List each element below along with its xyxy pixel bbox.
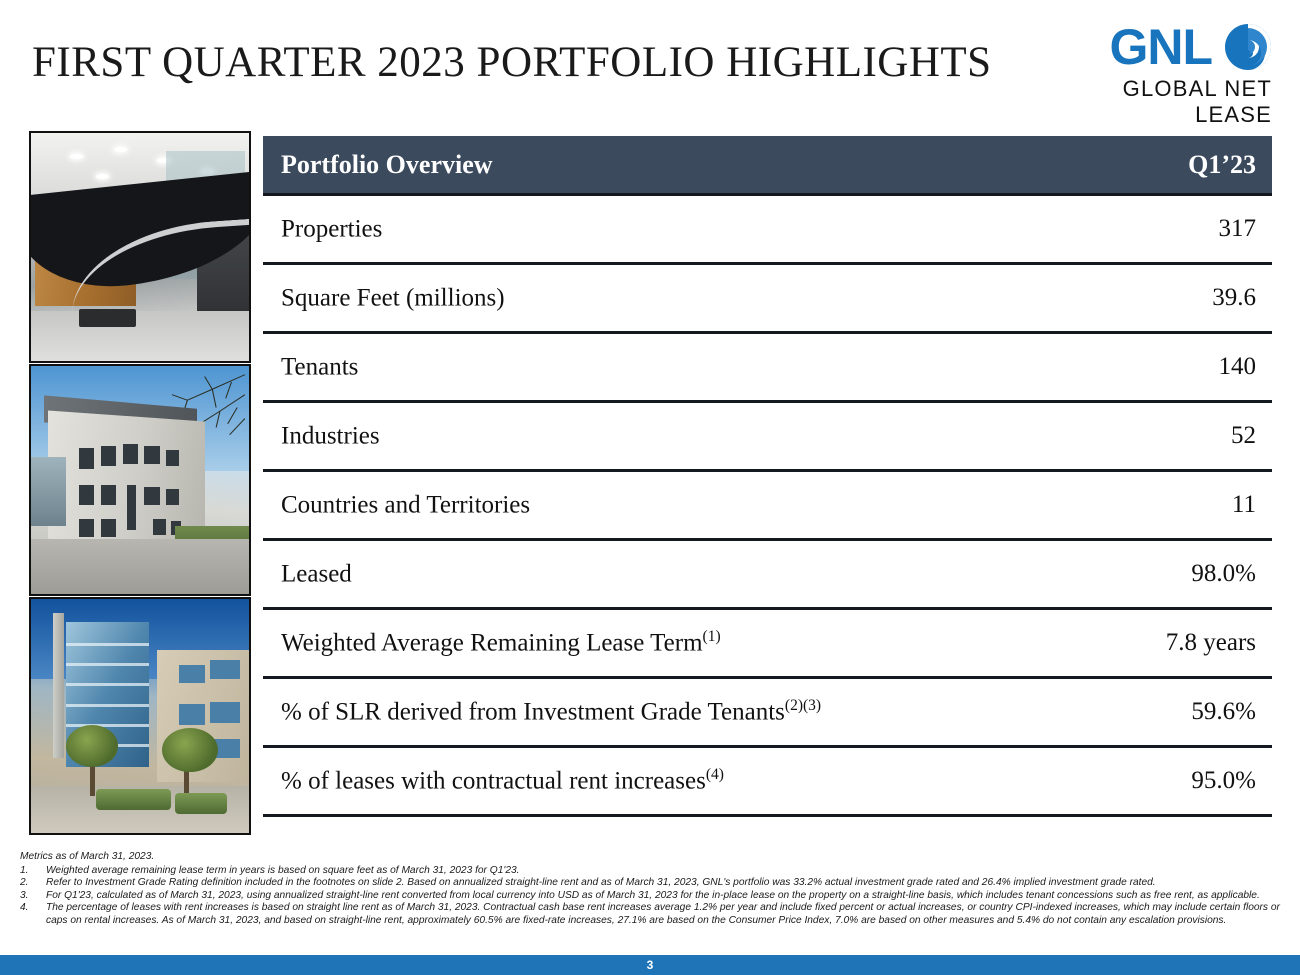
row-label: Properties: [281, 214, 382, 243]
footnote-text: Refer to Investment Grade Rating definit…: [46, 877, 1282, 890]
table-row: % of SLR derived from Investment Grade T…: [263, 679, 1272, 748]
row-label: Weighted Average Remaining Lease Term(1): [281, 628, 721, 657]
footnote-text: Weighted average remaining lease term in…: [46, 865, 1282, 878]
table-row: Weighted Average Remaining Lease Term(1)…: [263, 610, 1272, 679]
portfolio-overview-table: Portfolio Overview Q1’23 Properties 317 …: [263, 136, 1272, 817]
row-value: 98.0%: [1191, 560, 1256, 588]
blue-glass-office-building-photo: [29, 597, 251, 835]
row-value: 59.6%: [1191, 698, 1256, 726]
row-value: 7.8 years: [1166, 629, 1256, 657]
row-label: % of SLR derived from Investment Grade T…: [281, 697, 821, 726]
footnote-item: 1. Weighted average remaining lease term…: [20, 865, 1282, 878]
table-header-row: Portfolio Overview Q1’23: [263, 136, 1272, 196]
footnote-number: 3.: [20, 890, 46, 903]
photo-column: [29, 131, 251, 835]
page-number: 3: [0, 955, 1300, 975]
spiral-swirl-icon: [1224, 23, 1272, 71]
footnote-number: 2.: [20, 877, 46, 890]
table-row: Square Feet (millions) 39.6: [263, 265, 1272, 334]
suburban-office-building-photo: [29, 364, 251, 596]
footnote-number: 4.: [20, 902, 46, 927]
row-value: 11: [1232, 491, 1256, 519]
table-row: Properties 317: [263, 196, 1272, 265]
row-value: 317: [1219, 215, 1257, 243]
page-title: FIRST QUARTER 2023 PORTFOLIO HIGHLIGHTS: [32, 38, 992, 87]
row-label: Countries and Territories: [281, 490, 530, 519]
table-header-label: Portfolio Overview: [281, 150, 493, 180]
row-label: % of leases with contractual rent increa…: [281, 766, 724, 795]
row-value: 39.6: [1212, 284, 1256, 312]
row-value: 52: [1231, 422, 1256, 450]
gnl-logo: GNL GLOBAL NET LEASE: [1062, 20, 1272, 106]
row-value: 140: [1219, 353, 1257, 381]
row-value: 95.0%: [1191, 767, 1256, 795]
row-label: Industries: [281, 421, 380, 450]
footnote-text: The percentage of leases with rent incre…: [46, 902, 1282, 927]
table-row: Countries and Territories 11: [263, 472, 1272, 541]
row-footnote-ref: (2)(3): [785, 697, 821, 714]
table-row: % of leases with contractual rent increa…: [263, 748, 1272, 817]
table-row: Industries 52: [263, 403, 1272, 472]
footnote-text: For Q1'23, calculated as of March 31, 20…: [46, 890, 1282, 903]
table-header-value: Q1’23: [1188, 150, 1256, 180]
footnote-number: 1.: [20, 865, 46, 878]
table-row: Tenants 140: [263, 334, 1272, 403]
row-footnote-ref: (1): [703, 628, 721, 645]
footnotes-block: Metrics as of March 31, 2023. 1. Weighte…: [20, 851, 1282, 928]
table-row: Leased 98.0%: [263, 541, 1272, 610]
logo-wordmark: GNL: [1109, 22, 1212, 72]
logo-tagline: GLOBAL NET LEASE: [1062, 76, 1272, 128]
footnote-item: 4. The percentage of leases with rent in…: [20, 902, 1282, 927]
row-footnote-ref: (4): [706, 766, 724, 783]
footnotes-intro: Metrics as of March 31, 2023.: [20, 851, 1282, 864]
office-lobby-staircase-photo: [29, 131, 251, 363]
footnote-item: 2. Refer to Investment Grade Rating defi…: [20, 877, 1282, 890]
footnote-item: 3. For Q1'23, calculated as of March 31,…: [20, 890, 1282, 903]
row-label: Tenants: [281, 352, 358, 381]
row-label: Leased: [281, 559, 352, 588]
row-label: Square Feet (millions): [281, 283, 505, 312]
